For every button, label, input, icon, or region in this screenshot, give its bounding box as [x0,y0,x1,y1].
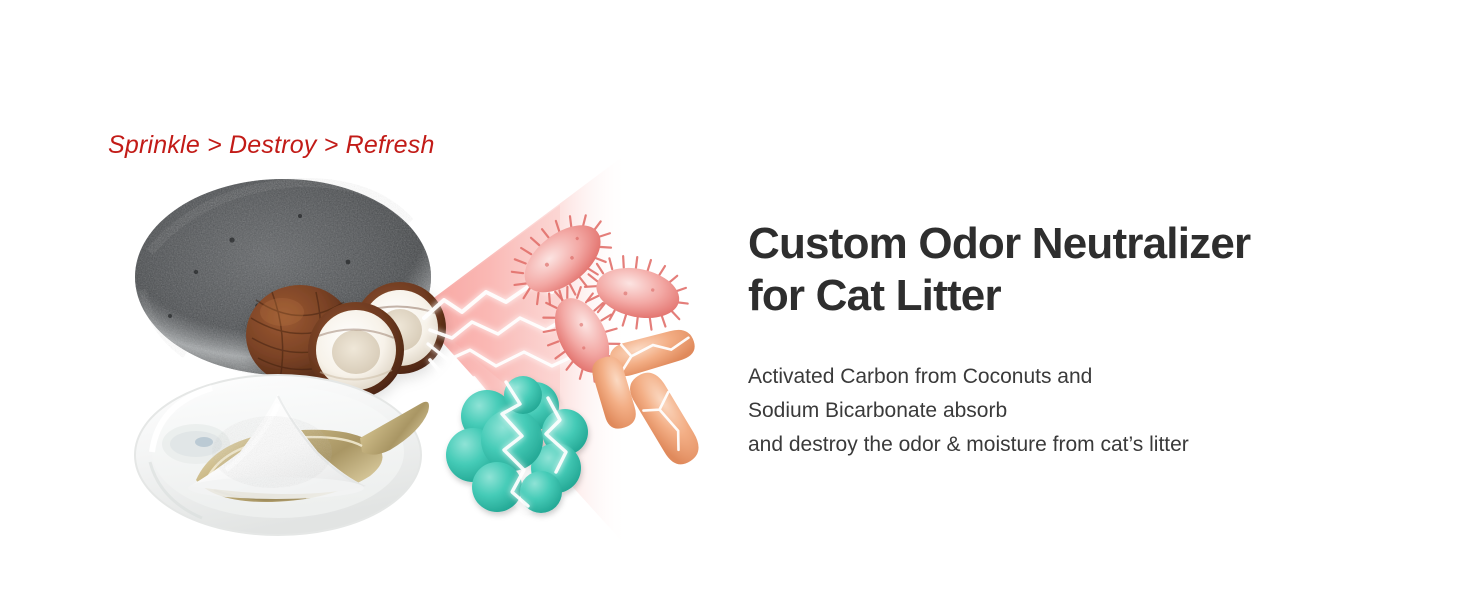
product-description: Activated Carbon from Coconuts and Sodiu… [748,322,1368,462]
page-title: Custom Odor Neutralizer for Cat Litter [748,218,1368,322]
description-line-2: Sodium Bicarbonate absorb [748,394,1368,428]
product-illustration [0,0,740,600]
description-line-1: Activated Carbon from Coconuts and [748,360,1368,394]
product-feature-banner: Sprinkle > Destroy > Refresh [0,0,1464,600]
headline-line-1: Custom Odor Neutralizer [748,219,1250,268]
headline-line-2: for Cat Litter [748,270,1368,322]
copy-block: Custom Odor Neutralizer for Cat Litter A… [748,218,1368,462]
description-line-3: and destroy the odor & moisture from cat… [748,428,1368,462]
sodium-bicarbonate-in-glass-dish [135,375,429,535]
